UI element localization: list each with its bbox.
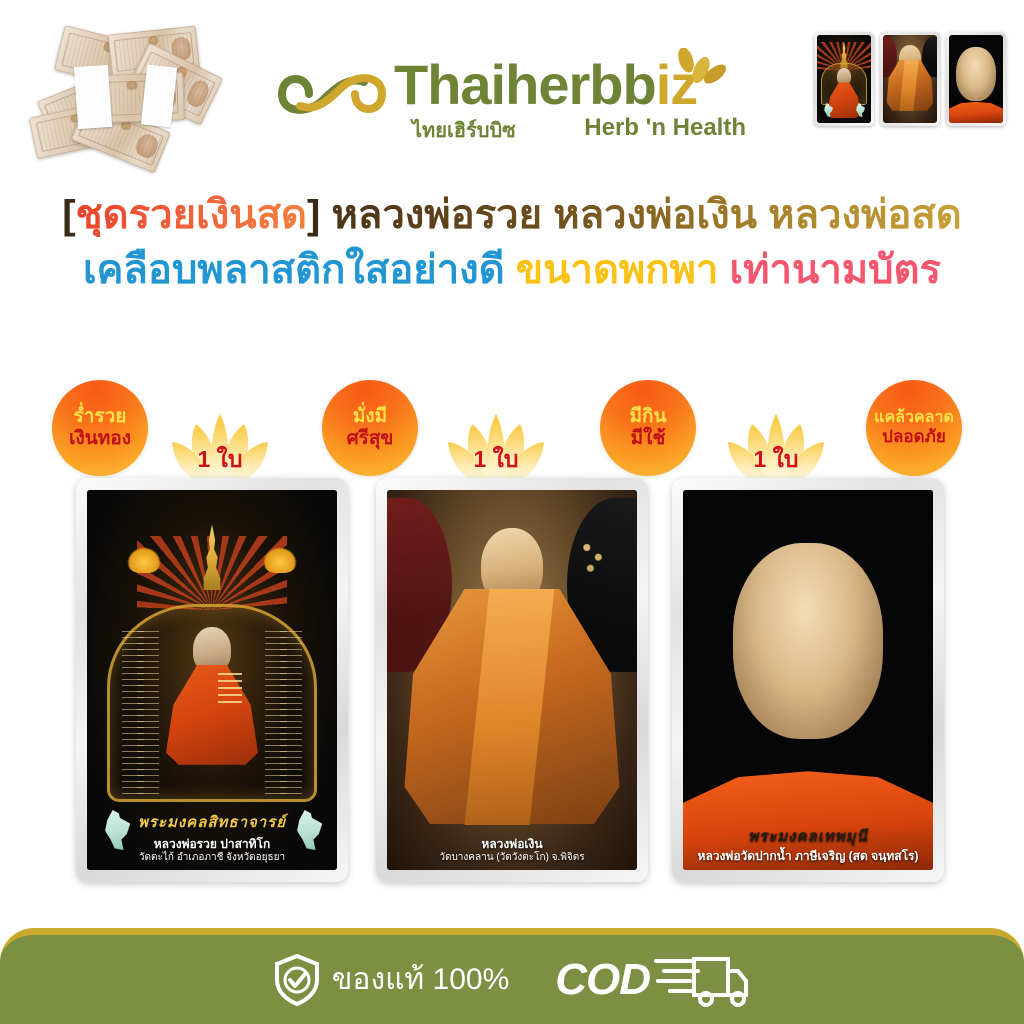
amulet-card-luang-por-ngern[interactable]: หลวงพ่อเงิน วัดบางคลาน (วัดวังตะโก) จ.พิ… [376,478,648,882]
amulet-cards-row: พระมงคลสิทธาจารย์ หลวงพ่อรวย ปาสาทิโก วั… [0,478,1024,890]
card1-caption-title: หลวงพ่อรวย ปาสาทิโก [87,837,337,852]
infinity-leaf-logo-icon [276,60,388,128]
headline-card-size: เท่านามบัตร [729,248,941,292]
card1-script-title: พระมงคลสิทธาจารย์ [87,814,337,833]
thumbnail-strip [814,32,1006,126]
bracket-open: [ [62,193,75,237]
headline-portable: ขนาดพกพา [516,248,719,292]
shield-check-icon [274,954,320,1006]
badge-sustenance: มีกิน มีใช้ [600,380,696,476]
card3-caption-title: หลวงพ่อวัดปากน้ำ ภาษีเจริญ (สด จนฺทสโร) [683,849,933,864]
brand-logo: Thaiherbbiz ไทยเฮิร์บบิซ Herb 'n Health [276,52,746,148]
product-banner-page: Thaiherbbiz ไทยเฮิร์บบิซ Herb 'n Health [0,0,1024,1024]
badge-sustenance-line1: มีกิน [629,406,666,428]
thumbnail-card-1[interactable] [814,32,874,126]
badge-prosperity-line2: ศรีสุข [347,428,394,450]
benefit-badges-row: ร่ำรวย เงินทอง มั่งมี ศรีสุข มีกิน มีใช้… [0,368,1024,488]
leaf-sprig-icon [656,48,726,94]
logo-tagline: Herb 'n Health [584,114,746,142]
badge-sustenance-line2: มีใช้ [631,428,666,450]
cod-badge: COD [555,951,750,1009]
badge-safety: แคล้วคลาด ปลอดภัย [866,380,962,476]
lotus-quantity-label-2: 1 ใบ [442,442,550,478]
logo-word-green: Thaiherbb [394,53,656,116]
card2-caption-sub: วัดบางคลาน (วัดวังตะโก) จ.พิจิตร [387,852,637,865]
headline-block: [ชุดรวยเงินสด] หลวงพ่อรวย หลวงพ่อเงิน หล… [0,188,1024,298]
money-stack-image [24,22,214,167]
badge-safety-line2: ปลอดภัย [882,427,946,447]
headline-monk-names: หลวงพ่อรวย หลวงพ่อเงิน หลวงพ่อสด [331,193,961,237]
card1-caption-sub: วัดตะไก้ อำเภอภาชี จังหวัดอยุธยา [87,852,337,865]
guarantee-label: ของแท้ 100% [332,956,509,1003]
amulet-card-luang-por-sodh[interactable]: พระมงคลเทพมุนี หลวงพ่อวัดปากน้ำ ภาษีเจริ… [672,478,944,882]
badge-wealth: ร่ำรวย เงินทอง [52,380,148,476]
badge-prosperity: มั่งมี ศรีสุข [322,380,418,476]
logo-thai-name: ไทยเฮิร์บบิซ [412,114,516,146]
headline-line-2: เคลือบพลาสติกใสอย่างดี ขนาดพกพา เท่านามบ… [0,243,1024,298]
badge-wealth-line1: ร่ำรวย [74,406,127,428]
trust-banner: ของแท้ 100% COD [0,928,1024,1024]
badge-wealth-line2: เงินทอง [69,428,131,450]
badge-safety-line1: แคล้วคลาด [874,409,954,427]
bracket-close: ] [307,193,320,237]
headline-set-name: ชุดรวยเงินสด [76,193,307,237]
card2-caption-title: หลวงพ่อเงิน [387,837,637,852]
badge-prosperity-line1: มั่งมี [353,406,387,428]
thumbnail-card-3[interactable] [946,32,1006,126]
authenticity-guarantee: ของแท้ 100% [274,954,509,1006]
logo-wordmark: Thaiherbbiz [394,52,697,117]
card3-script-title: พระมงคลเทพมุนี [683,828,933,847]
amulet-card-luang-por-ruay[interactable]: พระมงคลสิทธาจารย์ หลวงพ่อรวย ปาสาทิโก วั… [76,478,348,882]
headline-lamination: เคลือบพลาสติกใสอย่างดี [83,248,505,292]
thumbnail-card-2[interactable] [880,32,940,126]
delivery-truck-icon [654,951,750,1009]
headline-line-1: [ชุดรวยเงินสด] หลวงพ่อรวย หลวงพ่อเงิน หล… [0,188,1024,243]
cod-label: COD [555,955,650,1005]
lotus-quantity-label-3: 1 ใบ [722,442,830,478]
lotus-quantity-label-1: 1 ใบ [166,442,274,478]
